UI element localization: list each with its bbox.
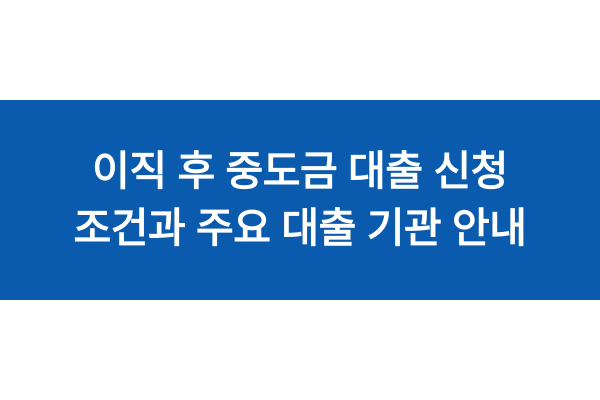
banner-title: 이직 후 중도금 대출 신청 조건과 주요 대출 기관 안내 bbox=[74, 143, 527, 257]
banner-title-line-2: 조건과 주요 대출 기관 안내 bbox=[74, 200, 527, 257]
banner-canvas: 이직 후 중도금 대출 신청 조건과 주요 대출 기관 안내 bbox=[0, 0, 600, 400]
banner-title-line-1: 이직 후 중도금 대출 신청 bbox=[74, 143, 527, 200]
banner-band: 이직 후 중도금 대출 신청 조건과 주요 대출 기관 안내 bbox=[0, 100, 600, 300]
